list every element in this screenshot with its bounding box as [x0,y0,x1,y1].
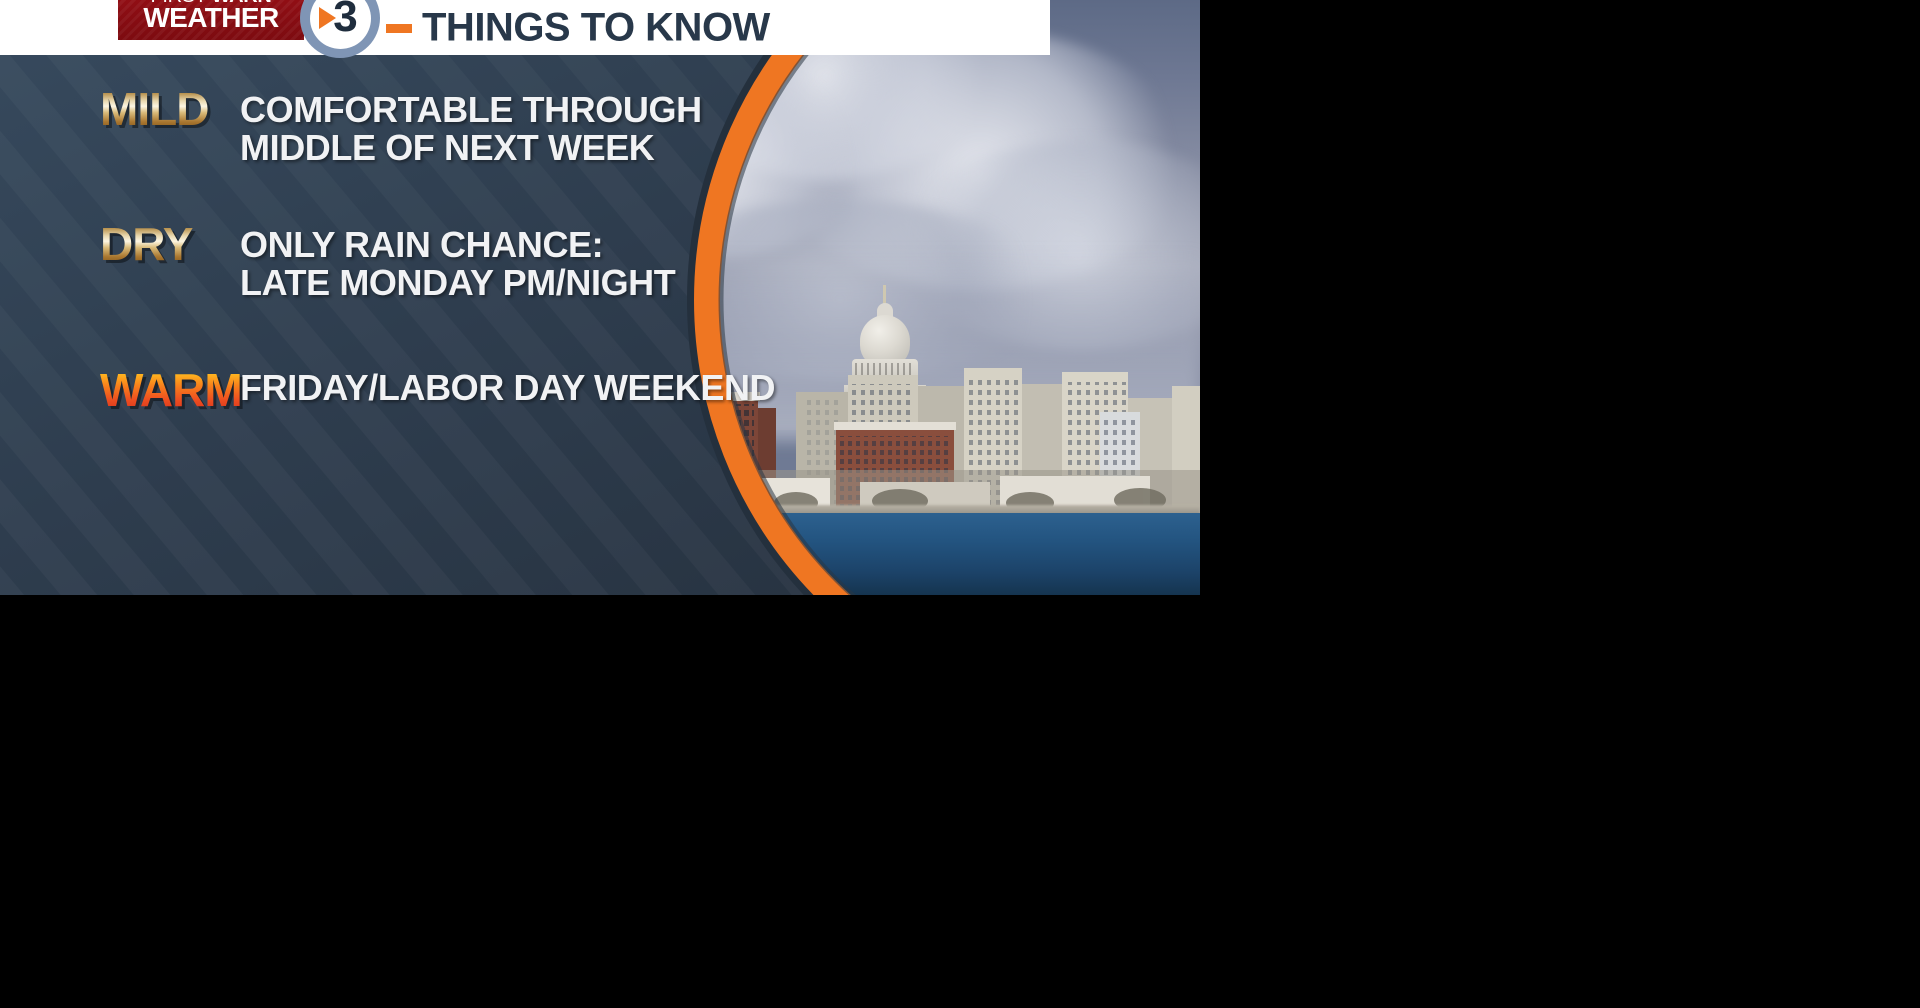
channel-number: 3 [333,0,356,39]
row-tag-mild: MILD [100,86,240,132]
row-copy-line: ONLY RAIN CHANCE: [240,226,675,264]
row-copy-line: COMFORTABLE THROUGH [240,91,702,129]
list-item: WARM FRIDAY/LABOR DAY WEEKEND [0,365,900,413]
row-copy-line: LATE MONDAY PM/NIGHT [240,264,675,302]
row-copy-mild: COMFORTABLE THROUGH MIDDLE OF NEXT WEEK [240,86,702,167]
list-item: DRY ONLY RAIN CHANCE: LATE MONDAY PM/NIG… [0,221,900,302]
header-bar: FIRST WARN WEATHER 3 THINGS TO KNOW [0,0,1050,55]
lake-water [600,513,1200,595]
orange-dash-divider [386,24,412,33]
screen-letterbox: FIRST WARN WEATHER 3 THINGS TO KNOW MILD [0,0,1920,1008]
list-item: MILD COMFORTABLE THROUGH MIDDLE OF NEXT … [0,86,900,167]
row-copy-line: FRIDAY/LABOR DAY WEEKEND [240,369,775,407]
channel-3-badge[interactable]: 3 [300,0,380,58]
row-tag-dry: DRY [100,221,240,267]
row-copy-dry: ONLY RAIN CHANCE: LATE MONDAY PM/NIGHT [240,221,675,302]
logo-line-2: WEATHER [143,5,278,31]
page-title: THINGS TO KNOW [422,5,770,50]
first-warn-weather-logo[interactable]: FIRST WARN WEATHER [118,0,304,40]
weather-graphic: FIRST WARN WEATHER 3 THINGS TO KNOW MILD [0,0,1200,595]
things-to-know-list: MILD COMFORTABLE THROUGH MIDDLE OF NEXT … [0,60,900,451]
row-copy-line: MIDDLE OF NEXT WEEK [240,129,702,167]
row-copy-warm: FRIDAY/LABOR DAY WEEKEND [240,365,775,407]
row-tag-warm: WARM [100,365,240,413]
